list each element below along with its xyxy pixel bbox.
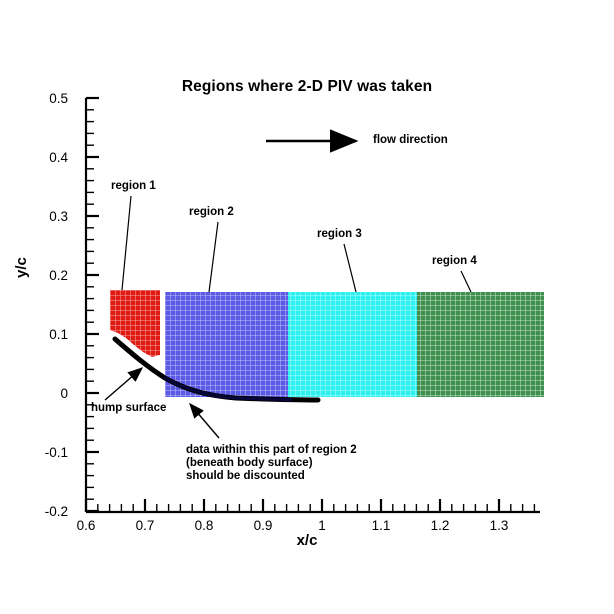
leader-region-1: [122, 196, 131, 290]
annotation-region-4: region 4: [432, 255, 477, 268]
chart-root: Regions where 2-D PIV was taken x/c y/c …: [0, 0, 614, 614]
annotation-region-3: region 3: [317, 228, 362, 241]
annotation-hump-surface: hump surface: [91, 402, 166, 415]
leader-region-4: [461, 271, 471, 292]
x-axis-minor-ticks: [98, 504, 535, 512]
annotation-flow-direction: flow direction: [373, 134, 448, 147]
region-2-box: [165, 292, 291, 397]
plot-canvas: [0, 0, 614, 614]
x-axis-major-ticks: [86, 499, 499, 512]
region-1-box: [110, 290, 160, 358]
y-axis-major-ticks: [86, 98, 99, 511]
annotation-discount-note: data within this part of region 2 (benea…: [186, 444, 357, 483]
discount-note-line-1: data within this part of region 2: [186, 444, 357, 457]
leader-discount-note: [190, 404, 219, 438]
leader-region-3: [344, 244, 356, 292]
y-axis-minor-ticks: [86, 110, 94, 499]
leader-region-2: [209, 222, 218, 292]
annotation-region-2: region 2: [189, 206, 234, 219]
region-4-box: [417, 292, 544, 397]
discount-note-line-3: should be discounted: [186, 470, 357, 483]
leader-lines: [122, 196, 471, 292]
leader-hump-surface: [105, 368, 142, 400]
region-3-box: [288, 292, 417, 397]
annotation-region-1: region 1: [111, 180, 156, 193]
discount-note-line-2: (beneath body surface): [186, 457, 357, 470]
